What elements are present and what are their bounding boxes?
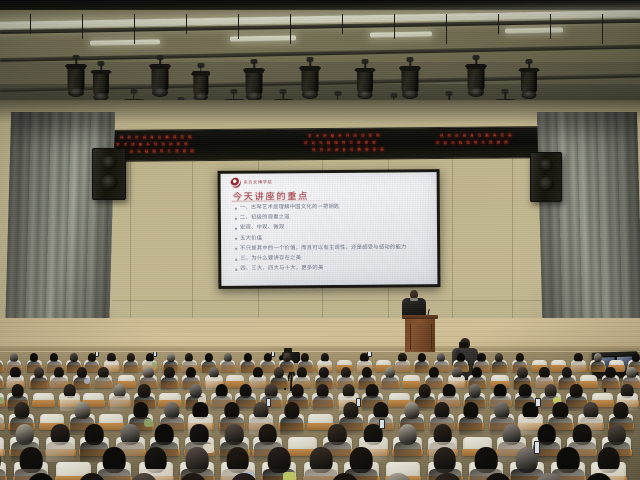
audience-member — [224, 473, 265, 480]
lamp-barndoor — [244, 68, 264, 73]
audience-member — [518, 402, 543, 422]
audience-member — [558, 367, 576, 382]
audience-member — [9, 402, 34, 422]
audience-phone-icon — [379, 419, 385, 430]
audience-member — [381, 367, 399, 382]
stage-spotlight — [240, 62, 268, 102]
bullet-dot-icon — [235, 238, 237, 240]
audience-member — [434, 353, 449, 366]
audience-member — [205, 367, 223, 382]
audience-member — [182, 353, 197, 366]
wall-seam — [130, 158, 131, 318]
audience-member — [617, 384, 638, 401]
audience-member — [602, 424, 631, 447]
audience-member — [323, 424, 352, 447]
audience-member — [287, 384, 308, 401]
audience-member — [7, 353, 22, 366]
audience-head — [384, 473, 412, 480]
audience-shoulders — [124, 361, 138, 373]
audience-member — [249, 367, 267, 382]
bullet-dot-icon — [235, 218, 237, 220]
led-line-2: 学 术 讲 座 系 列 活 动 现 场 — [116, 142, 189, 148]
audience-member — [359, 424, 388, 447]
audience-phone-icon — [266, 398, 271, 407]
slide-bullet-text: 五大价值 — [240, 235, 262, 242]
audience-shoulders — [382, 377, 399, 391]
audience-member — [185, 384, 206, 401]
wall-seam — [452, 158, 453, 318]
audience-shoulders — [161, 377, 178, 391]
truss-drop-rod — [498, 14, 499, 34]
audience-member — [7, 384, 28, 401]
audience-member — [161, 367, 179, 382]
audience-member — [73, 367, 91, 382]
audience-head — [27, 473, 55, 480]
truss-drop-rod — [238, 14, 239, 39]
audience-member — [0, 384, 4, 401]
audience-shoulders — [394, 442, 422, 463]
truss-drop-rod — [82, 14, 83, 39]
audience-head — [179, 473, 207, 480]
bullet-dot-icon — [235, 268, 237, 270]
audience-member — [46, 424, 75, 447]
audience-member — [211, 384, 232, 401]
lamp-lens — [152, 88, 168, 97]
led-line-6: 热 烈 欢 迎 各 位 嘉 宾 莅 临 — [312, 147, 385, 153]
audience-member — [548, 402, 573, 422]
audience-member — [428, 447, 462, 473]
audience-head — [433, 473, 461, 480]
audience-member — [66, 353, 81, 366]
audience-phone-icon — [356, 398, 361, 407]
slide-logo: 东方文博学院 — [231, 177, 273, 187]
audience-head — [130, 473, 158, 480]
audience-shoulders — [280, 417, 304, 435]
audience-member — [578, 402, 603, 422]
audience-member — [628, 353, 640, 366]
lamp-lens — [522, 91, 537, 100]
audience-member — [262, 447, 296, 473]
audience-member — [7, 367, 25, 382]
audience-member — [492, 353, 507, 366]
audience-member — [395, 353, 410, 366]
led-scrolling-banner: 热 烈 欢 迎 各 位 嘉 宾 莅 临 学 术 讲 座 系 列 活 动 现 场 … — [108, 126, 540, 162]
lamp-lens — [358, 91, 373, 100]
audience-member — [139, 447, 173, 473]
audience-member — [623, 367, 640, 382]
audience-member — [458, 402, 483, 422]
audience-member — [414, 384, 435, 401]
audience-member — [201, 353, 216, 366]
audience-member — [453, 353, 468, 366]
audience-member — [536, 367, 554, 382]
lamp-lens — [302, 90, 318, 99]
audience-member — [0, 353, 3, 366]
truss-drop-rod — [290, 14, 291, 44]
lamp-lens — [468, 88, 484, 97]
audience-member — [312, 384, 333, 401]
audience-shoulders — [492, 361, 506, 373]
slide-bullet-list: 一、古琴艺术是理解中国文化的一把钥匙 二、初级的观看之道 宏观、中观、微观 五大… — [235, 203, 430, 276]
audience-member — [425, 367, 443, 382]
led-line-4: 学 术 讲 座 系 列 活 动 现 场 — [308, 134, 381, 140]
presenter-collar — [410, 298, 418, 301]
audience-member — [104, 353, 119, 366]
audience-member — [478, 473, 519, 480]
audience-member — [578, 473, 619, 480]
audience-member — [128, 402, 153, 422]
audience-head — [78, 473, 106, 480]
lecture-hall-photo: 热 烈 欢 迎 各 位 嘉 宾 莅 临 学 术 讲 座 系 列 活 动 现 场 … — [0, 0, 640, 480]
audience-member — [591, 447, 625, 473]
audience-member — [337, 367, 355, 382]
audience-member — [339, 402, 364, 422]
audience-member — [469, 447, 503, 473]
audience-member — [400, 402, 425, 422]
slide-bullet-text: 不只是其中的一个价值，而且可以有主观性，还是感受与感动的能力 — [240, 244, 406, 252]
audience-member — [185, 424, 214, 447]
audience-member — [270, 367, 288, 382]
led-line-1: 热 烈 欢 迎 各 位 嘉 宾 莅 临 — [120, 135, 193, 141]
audience-member — [590, 353, 605, 366]
audience-shoulders — [110, 396, 130, 411]
truss-drop-rod — [550, 14, 551, 39]
seat-armrest — [32, 400, 55, 407]
audience-member — [182, 367, 200, 382]
lamp-lens — [68, 88, 84, 97]
projection-screen[interactable]: 东方文博学院 今天讲座的重点 一、古琴艺术是理解中国文化的一把钥匙 二、初级的观… — [218, 169, 441, 289]
audience-member — [377, 473, 418, 480]
audience-member — [220, 424, 249, 447]
audience-member — [220, 402, 245, 422]
audience-member — [474, 353, 489, 366]
audience-shoulders — [46, 442, 74, 463]
audience-member — [20, 473, 61, 480]
slide-bullet-text: 宏观、中观、微观 — [240, 225, 284, 232]
stage-spotlight — [462, 58, 490, 98]
audience-member — [188, 402, 213, 422]
bullet-dot-icon — [235, 248, 237, 250]
slide-org-name: 东方文博学院 — [244, 179, 273, 185]
handheld-camera-icon — [459, 342, 468, 348]
wall-seam — [192, 158, 193, 318]
audience-member — [142, 353, 157, 366]
university-seal-icon — [231, 178, 241, 188]
stage-edge — [0, 346, 640, 351]
audience-member — [50, 367, 68, 382]
audience-member — [279, 353, 294, 366]
audience-shoulders — [312, 396, 332, 411]
audience-head — [484, 473, 512, 480]
audience-member — [490, 402, 515, 422]
lamp-barndoor — [192, 71, 210, 76]
audience-member — [109, 384, 130, 401]
audience-member — [571, 353, 586, 366]
audience-member — [0, 473, 11, 480]
audience-member — [358, 367, 376, 382]
audience-member — [240, 353, 255, 366]
audience-member — [150, 424, 179, 447]
audience-member — [609, 402, 634, 422]
audience-member — [438, 384, 459, 401]
audience-shoulders — [30, 377, 47, 391]
audience-member — [123, 353, 138, 366]
stage-spotlight — [396, 60, 424, 100]
slide-bullet: 五大价值 — [235, 234, 429, 242]
audience-member — [515, 384, 536, 401]
audience-member — [514, 367, 532, 382]
lamp-barndoor — [92, 70, 111, 75]
truss-drop-rod — [134, 14, 135, 44]
audience-member — [180, 447, 214, 473]
truss-drop-rod — [342, 14, 343, 34]
audience-member — [123, 473, 164, 480]
audience-head — [230, 473, 258, 480]
audience-member — [0, 424, 4, 447]
audience-member — [362, 384, 383, 401]
audience-member — [0, 402, 4, 422]
stage-spotlight — [188, 66, 213, 102]
floor-plank — [0, 336, 640, 337]
audience-member — [0, 447, 6, 473]
audience-member — [279, 402, 304, 422]
stage-spotlight — [88, 64, 115, 102]
audience-member — [134, 384, 155, 401]
audience-member — [468, 367, 486, 382]
floor-plank — [0, 342, 640, 343]
audience-member — [315, 367, 333, 382]
truss-drop-rod — [394, 14, 395, 39]
audience-member — [428, 424, 457, 447]
floor-plank — [0, 322, 640, 323]
stage-spotlight — [62, 58, 90, 98]
audience-member — [116, 424, 145, 447]
audience-member — [249, 402, 274, 422]
audience-item — [283, 472, 296, 480]
stage-curtain-left — [5, 112, 115, 342]
audience-member — [84, 353, 99, 366]
audience-member — [512, 353, 527, 366]
audience-member — [551, 447, 585, 473]
auditorium-seat[interactable] — [33, 393, 54, 405]
audience-member — [30, 367, 48, 382]
slide-bullet-text: 二、初级的观看之道 — [240, 214, 290, 221]
stage-curtain-right — [537, 112, 640, 344]
audience-shoulders — [221, 361, 235, 373]
slide-bullet-text: 四、三大、四大与十大，更多的美 — [240, 265, 323, 272]
audience-member — [497, 424, 526, 447]
slide-bullet: 不只是其中的一个价值，而且可以有主观性，还是感受与感动的能力 — [235, 244, 429, 252]
audience-member — [448, 367, 466, 382]
audience-member — [540, 384, 561, 401]
truss-drop-rod — [446, 14, 447, 44]
slide-bullet: 二、初级的观看之道 — [235, 213, 429, 221]
audience-head — [585, 473, 613, 480]
podium-panel — [410, 324, 432, 350]
audience-member — [510, 447, 544, 473]
audience-member — [567, 424, 596, 447]
audience-member — [464, 384, 485, 401]
audience-shoulders — [459, 417, 483, 435]
stage-spotlight — [146, 58, 174, 98]
audience-member — [393, 424, 422, 447]
audience-member — [293, 367, 311, 382]
audience-member — [59, 384, 80, 401]
audience-member — [221, 447, 255, 473]
audience-member — [260, 384, 281, 401]
audience-member — [0, 367, 3, 382]
audience-member — [220, 353, 235, 366]
truss-drop-rod — [602, 14, 603, 44]
audience-member — [253, 424, 282, 447]
bullet-dot-icon — [235, 258, 237, 260]
audience-member — [490, 384, 511, 401]
audience-seating — [0, 352, 640, 480]
audience-member — [70, 402, 95, 422]
slide-bullet: 宏观、中观、微观 — [235, 224, 429, 232]
audience-phone-icon — [271, 352, 275, 357]
audience-member — [14, 447, 48, 473]
ceiling-light — [505, 27, 563, 33]
truss-drop-rod — [30, 14, 31, 34]
truss-drop-rod — [186, 14, 187, 34]
led-line-7: 热 烈 欢 迎 各 位 嘉 宾 莅 临 — [440, 133, 513, 139]
audience-phone-icon — [534, 441, 541, 454]
audience-member — [317, 353, 332, 366]
audience-member — [566, 384, 587, 401]
audience-phone-icon — [367, 352, 371, 357]
bullet-dot-icon — [235, 207, 237, 209]
audience-member — [304, 447, 338, 473]
slide-bullet: 三、为什么要讲存在之美 — [235, 254, 429, 262]
stage-spotlight — [352, 62, 379, 100]
audience-member — [324, 473, 365, 480]
audience-member — [260, 353, 275, 366]
audience-member — [172, 473, 213, 480]
bullet-dot-icon — [235, 228, 237, 230]
audience-member — [47, 353, 62, 366]
audience-phone-icon — [535, 398, 540, 407]
stage-spotlight — [296, 60, 324, 100]
audience-phone-icon — [153, 352, 157, 357]
slide-bullet: 四、三大、四大与十大，更多的美 — [235, 264, 429, 272]
audience-head — [535, 473, 563, 480]
audience-member — [10, 424, 39, 447]
lamp-lens — [402, 90, 418, 99]
audience-member — [27, 353, 42, 366]
audience-head — [0, 473, 4, 480]
led-line-8: 欢 迎 光 临 指 导 交 流 谢 谢 — [436, 140, 509, 146]
led-line-5: 欢 迎 光 临 指 导 交 流 谢 谢 — [304, 141, 377, 147]
wall-seam — [512, 158, 513, 318]
pa-speaker-right — [530, 152, 562, 202]
lamp-barndoor — [520, 68, 539, 73]
audience-member — [298, 353, 313, 366]
wall-seam-horizontal — [112, 300, 542, 301]
audience-phone-icon — [95, 352, 99, 357]
audience-member — [427, 473, 468, 480]
audience-member — [235, 384, 256, 401]
slide-bullet: 一、古琴艺术是理解中国文化的一把钥匙 — [235, 203, 429, 211]
audience-member — [140, 367, 158, 382]
lamp-barndoor — [150, 64, 170, 69]
lamp-barndoor — [66, 64, 86, 69]
audience-member — [602, 367, 620, 382]
led-line-3: 欢 迎 光 临 指 导 交 流 谢 谢 — [122, 149, 195, 155]
pa-speaker-left — [92, 148, 126, 200]
audience-member — [344, 447, 378, 473]
lamp-barndoor — [400, 66, 420, 71]
audience-member — [528, 473, 569, 480]
floor-plank — [0, 331, 640, 332]
audience-member — [80, 424, 109, 447]
slide-bullet-text: 一、古琴艺术是理解中国文化的一把钥匙 — [240, 204, 340, 211]
lamp-barndoor — [466, 64, 486, 69]
audience-member — [414, 353, 429, 366]
lamp-barndoor — [300, 66, 320, 71]
stage-spotlight — [516, 62, 543, 100]
audience-member — [357, 353, 372, 366]
audience-member — [95, 367, 113, 382]
audience-member — [430, 402, 455, 422]
presentation-slide: 东方文博学院 今天讲座的重点 一、古琴艺术是理解中国文化的一把钥匙 二、初级的观… — [221, 172, 438, 286]
audience-member — [163, 353, 178, 366]
audience-member — [71, 473, 112, 480]
audience-member — [160, 402, 185, 422]
lamp-barndoor — [356, 68, 375, 73]
audience-head — [331, 473, 359, 480]
slide-bullet-text: 三、为什么要讲存在之美 — [240, 255, 301, 262]
audience-member — [97, 447, 131, 473]
floor-plank — [0, 326, 640, 327]
